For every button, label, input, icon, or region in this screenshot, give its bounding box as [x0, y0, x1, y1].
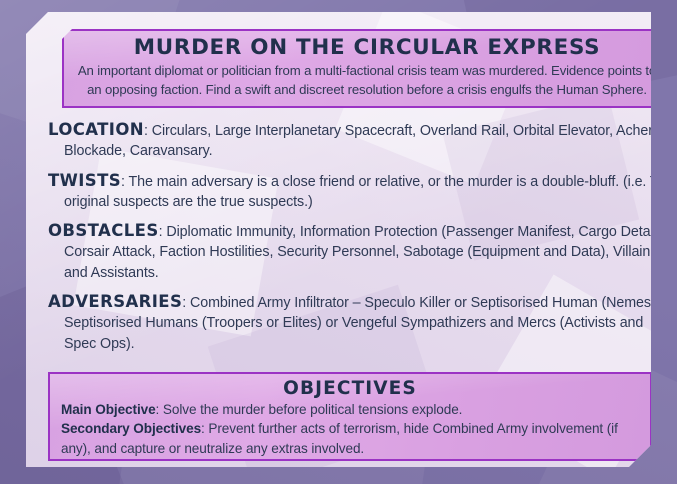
section-twists-text: The main adversary is a close friend or … [64, 174, 674, 210]
mission-card: MURDER ON THE CIRCULAR EXPRESS An import… [26, 12, 651, 467]
section-adversaries-label: ADVERSARIES [48, 292, 182, 311]
section-twists: TWISTS: The main adversary is a close fr… [48, 171, 676, 213]
section-twists-label: TWISTS [48, 171, 121, 190]
objective-main-separator: : [156, 402, 163, 417]
objective-main-label: Main Objective [61, 402, 156, 417]
mission-blurb: An important diplomat or politician from… [64, 60, 670, 99]
section-obstacles-label: OBSTACLES [48, 221, 159, 240]
section-location: LOCATION: Circulars, Large Interplanetar… [48, 120, 676, 162]
section-obstacles: OBSTACLES: Diplomatic Immunity, Informat… [48, 221, 676, 283]
section-location-text: Circulars, Large Interplanetary Spacecra… [64, 123, 669, 159]
section-adversaries-separator: : [182, 295, 190, 311]
mission-sections: LOCATION: Circulars, Large Interplanetar… [48, 120, 676, 363]
objectives-panel: OBJECTIVES Main Objective: Solve the mur… [48, 372, 652, 461]
objectives-title: OBJECTIVES [50, 377, 650, 400]
objective-main: Main Objective: Solve the murder before … [50, 400, 650, 419]
section-twists-separator: : [121, 174, 129, 190]
objective-secondary: Secondary Objectives: Prevent further ac… [50, 419, 650, 458]
objective-secondary-label: Secondary Objectives [61, 421, 201, 436]
mission-title: MURDER ON THE CIRCULAR EXPRESS [58, 34, 676, 60]
section-adversaries: ADVERSARIES: Combined Army Infiltrator –… [48, 292, 676, 354]
mission-header-panel: MURDER ON THE CIRCULAR EXPRESS An import… [62, 29, 672, 108]
section-location-label: LOCATION [48, 120, 144, 139]
mission-card-page: MURDER ON THE CIRCULAR EXPRESS An import… [0, 0, 677, 484]
section-location-separator: : [144, 123, 152, 139]
objective-main-text: Solve the murder before political tensio… [163, 402, 462, 417]
